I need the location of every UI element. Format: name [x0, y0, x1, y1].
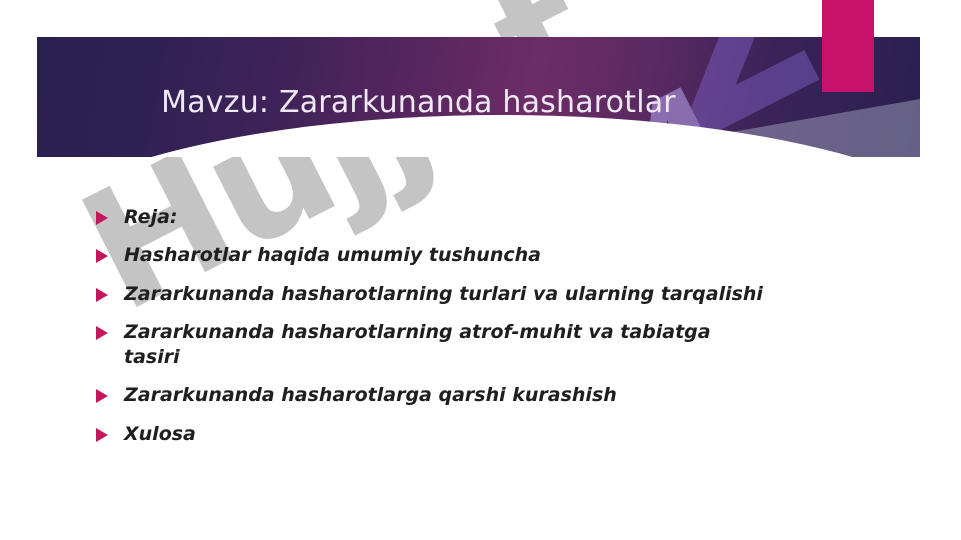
- list-item: Zararkunanda hasharotlarning turlari va …: [96, 282, 796, 307]
- list-item: Zararkunanda hasharotlarga qarshi kurash…: [96, 383, 796, 408]
- page-title: Mavzu: Zararkunanda hasharotlar: [37, 85, 920, 120]
- list-item: Xulosa: [96, 422, 796, 447]
- list-item-label: Zararkunanda hasharotlarga qarshi kurash…: [124, 383, 617, 408]
- triangle-bullet-icon: [96, 211, 108, 225]
- list-item: Zararkunanda hasharotlarning atrof-muhit…: [96, 320, 796, 371]
- list-item: Hasharotlar haqida umumiy tushuncha: [96, 243, 796, 268]
- presentation-slide: Hujjat 24 24 Mavzu: Zararkunanda hasharo…: [0, 0, 961, 540]
- triangle-bullet-icon: [96, 428, 108, 442]
- list-item-label: Zararkunanda hasharotlarning turlari va …: [124, 282, 763, 307]
- list-item: Reja:: [96, 205, 796, 230]
- triangle-bullet-icon: [96, 288, 108, 302]
- accent-bar: [822, 0, 874, 92]
- triangle-bullet-icon: [96, 389, 108, 403]
- list-item-label: Hasharotlar haqida umumiy tushuncha: [124, 243, 541, 268]
- triangle-bullet-icon: [96, 326, 108, 340]
- list-item-label: Xulosa: [124, 422, 196, 447]
- triangle-bullet-icon: [96, 249, 108, 263]
- list-item-label: Zararkunanda hasharotlarning atrof-muhit…: [124, 320, 764, 371]
- title-banner: 24 24 Mavzu: Zararkunanda hasharotlar: [37, 37, 920, 157]
- bullet-list: Reja: Hasharotlar haqida umumiy tushunch…: [96, 205, 796, 460]
- list-item-label: Reja:: [124, 205, 178, 230]
